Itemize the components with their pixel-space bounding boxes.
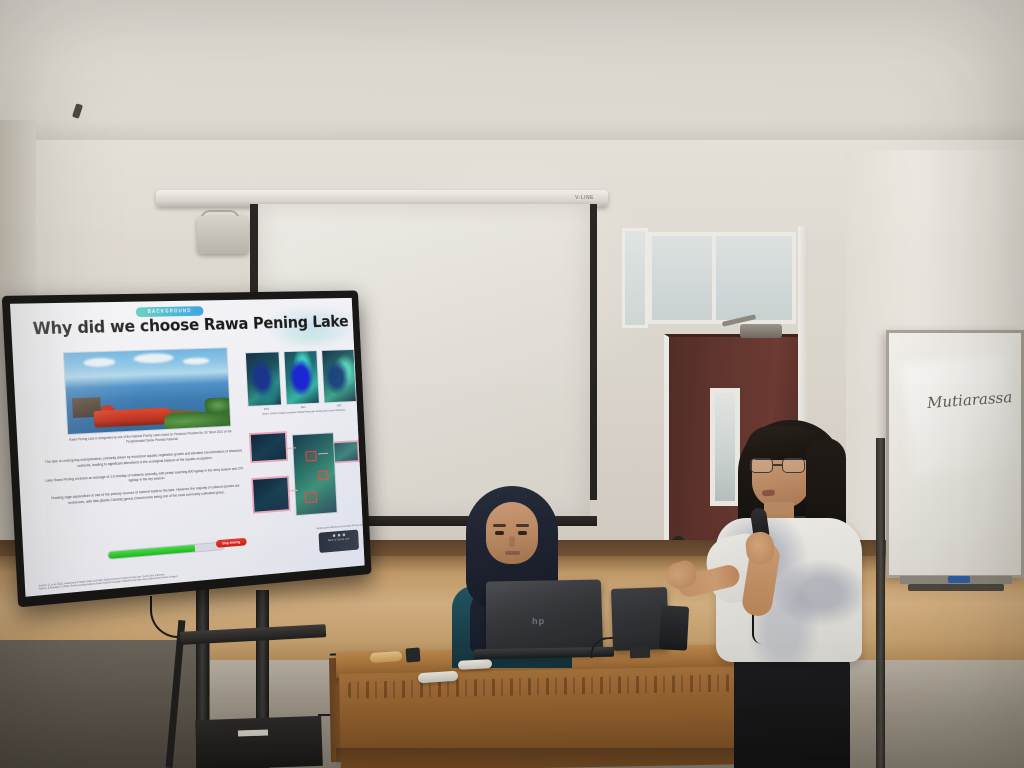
cloud — [133, 353, 174, 364]
seated-participant-face — [486, 502, 538, 564]
av-device[interactable] — [659, 605, 689, 650]
widget-label: Back to Canva Live — [321, 537, 356, 543]
cloud — [183, 357, 210, 365]
mouth — [505, 551, 520, 555]
door-closer — [740, 324, 782, 338]
eyebrow — [516, 524, 529, 527]
water-hyacinth — [164, 411, 231, 431]
collage-main-map — [292, 432, 338, 516]
eyeglass-lens — [750, 458, 773, 473]
satellite-year: 2019 — [264, 408, 269, 411]
collage-thumbnail — [249, 431, 288, 463]
eyeglasses — [748, 458, 812, 473]
standing-presenter — [690, 420, 880, 768]
laptop-brand-logo: hp — [532, 616, 545, 626]
projector-brand-label: V-LINE — [575, 195, 594, 201]
lake-photograph — [63, 347, 231, 435]
eyebrow — [493, 524, 506, 527]
podium-shadow — [336, 748, 748, 768]
nose — [509, 536, 515, 547]
tv-stand-base-equipment — [195, 716, 323, 768]
transom-window-left — [622, 228, 648, 328]
collage-thumbnail — [251, 476, 290, 514]
whiteboard[interactable]: Mutiarassa — [886, 330, 1024, 578]
canva-live-widget[interactable]: Back to Canva Live — [319, 530, 359, 553]
wall-display-tv[interactable]: BACKGROUND Why did we choose Rawa Pening… — [2, 290, 372, 607]
sampling-point-marker — [305, 491, 317, 503]
presentation-slide: BACKGROUND Why did we choose Rawa Pening… — [10, 298, 365, 597]
laptop-screen[interactable]: hp — [486, 580, 603, 654]
projector-unit — [197, 216, 249, 254]
satellite-image — [245, 351, 282, 407]
secondary-monitor-stand — [630, 646, 650, 659]
blue-marker[interactable] — [948, 576, 970, 583]
whiteboard-marker-tray — [908, 584, 1004, 591]
wireless-microphone[interactable] — [458, 659, 492, 670]
satellite-image-row — [245, 349, 357, 407]
equipment-label-strip — [238, 729, 268, 736]
presenter-mouth — [762, 490, 775, 497]
presentation-timer-track[interactable] — [107, 541, 225, 559]
transom-window — [648, 232, 796, 324]
stop-sharing-button[interactable]: Stop sharing — [216, 538, 247, 548]
sampling-point-marker — [305, 451, 316, 462]
tv-screen[interactable]: BACKGROUND Why did we choose Rawa Pening… — [10, 298, 365, 597]
slide-body-text: The lake is undergoing eutrophication, p… — [44, 449, 246, 516]
desk-object-dark[interactable] — [406, 648, 421, 663]
presentation-timer-fill — [108, 545, 195, 559]
room-scene: V-LINE Mutiarassa — [0, 0, 1024, 768]
eyeglass-bridge — [773, 464, 782, 466]
water-hyacinth — [204, 397, 231, 413]
red-boats — [93, 408, 173, 428]
satellite-image — [284, 350, 320, 405]
eye — [518, 531, 527, 535]
satellite-image — [321, 349, 356, 403]
satellite-year: 2023 — [337, 404, 342, 407]
cloud — [83, 358, 115, 368]
whiteboard-glare — [901, 354, 1016, 476]
satellite-collage — [242, 422, 365, 535]
eye — [495, 531, 504, 535]
satellite-year: 2021 — [301, 406, 306, 409]
presenter-trousers — [734, 648, 850, 768]
eyeglass-lens — [782, 458, 805, 473]
sampling-point-marker — [318, 470, 328, 480]
whiteboard-surface: Mutiarassa — [889, 333, 1021, 575]
transom-mullion — [712, 232, 716, 324]
